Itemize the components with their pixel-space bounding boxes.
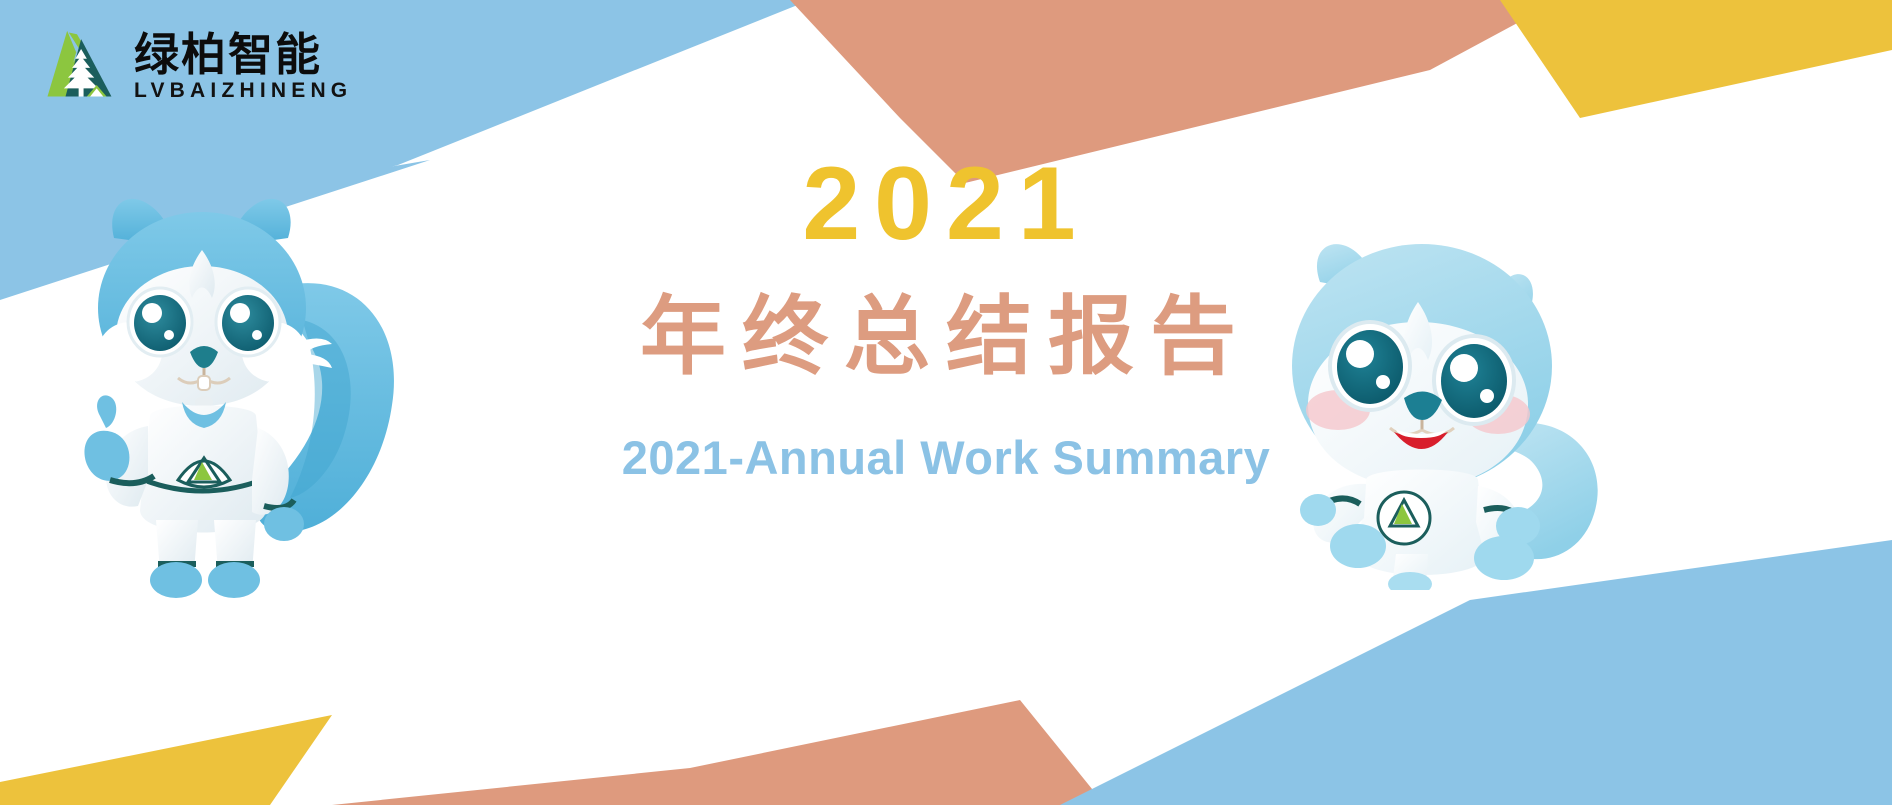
bottom-left-yellow-band (0, 715, 332, 805)
top-right-yellow-band (1500, 0, 1892, 118)
blue-squirrel-mascot-waving-icon (1246, 218, 1618, 590)
brand-wordmark: 绿柏智能 LVBAIZHINENG (134, 32, 352, 103)
banner-root: 绿柏智能 LVBAIZHINENG (0, 0, 1892, 805)
lvbai-triangle-pine-logo-icon (36, 26, 118, 108)
bottom-center-salmon-band (332, 700, 1105, 805)
brand-name-en: LVBAIZHINENG (134, 79, 352, 102)
brand-name-cn: 绿柏智能 (134, 32, 352, 78)
hero-subtitle-en: 2021-Annual Work Summary (622, 434, 1270, 481)
hero-year: 2021 (802, 152, 1089, 256)
blue-squirrel-mascot-thumbs-up-icon (52, 180, 402, 600)
hero-title-cn: 年终总结报告 (640, 294, 1252, 380)
top-center-salmon-band (790, 0, 1560, 183)
brand-logo[interactable]: 绿柏智能 LVBAIZHINENG (36, 26, 352, 108)
